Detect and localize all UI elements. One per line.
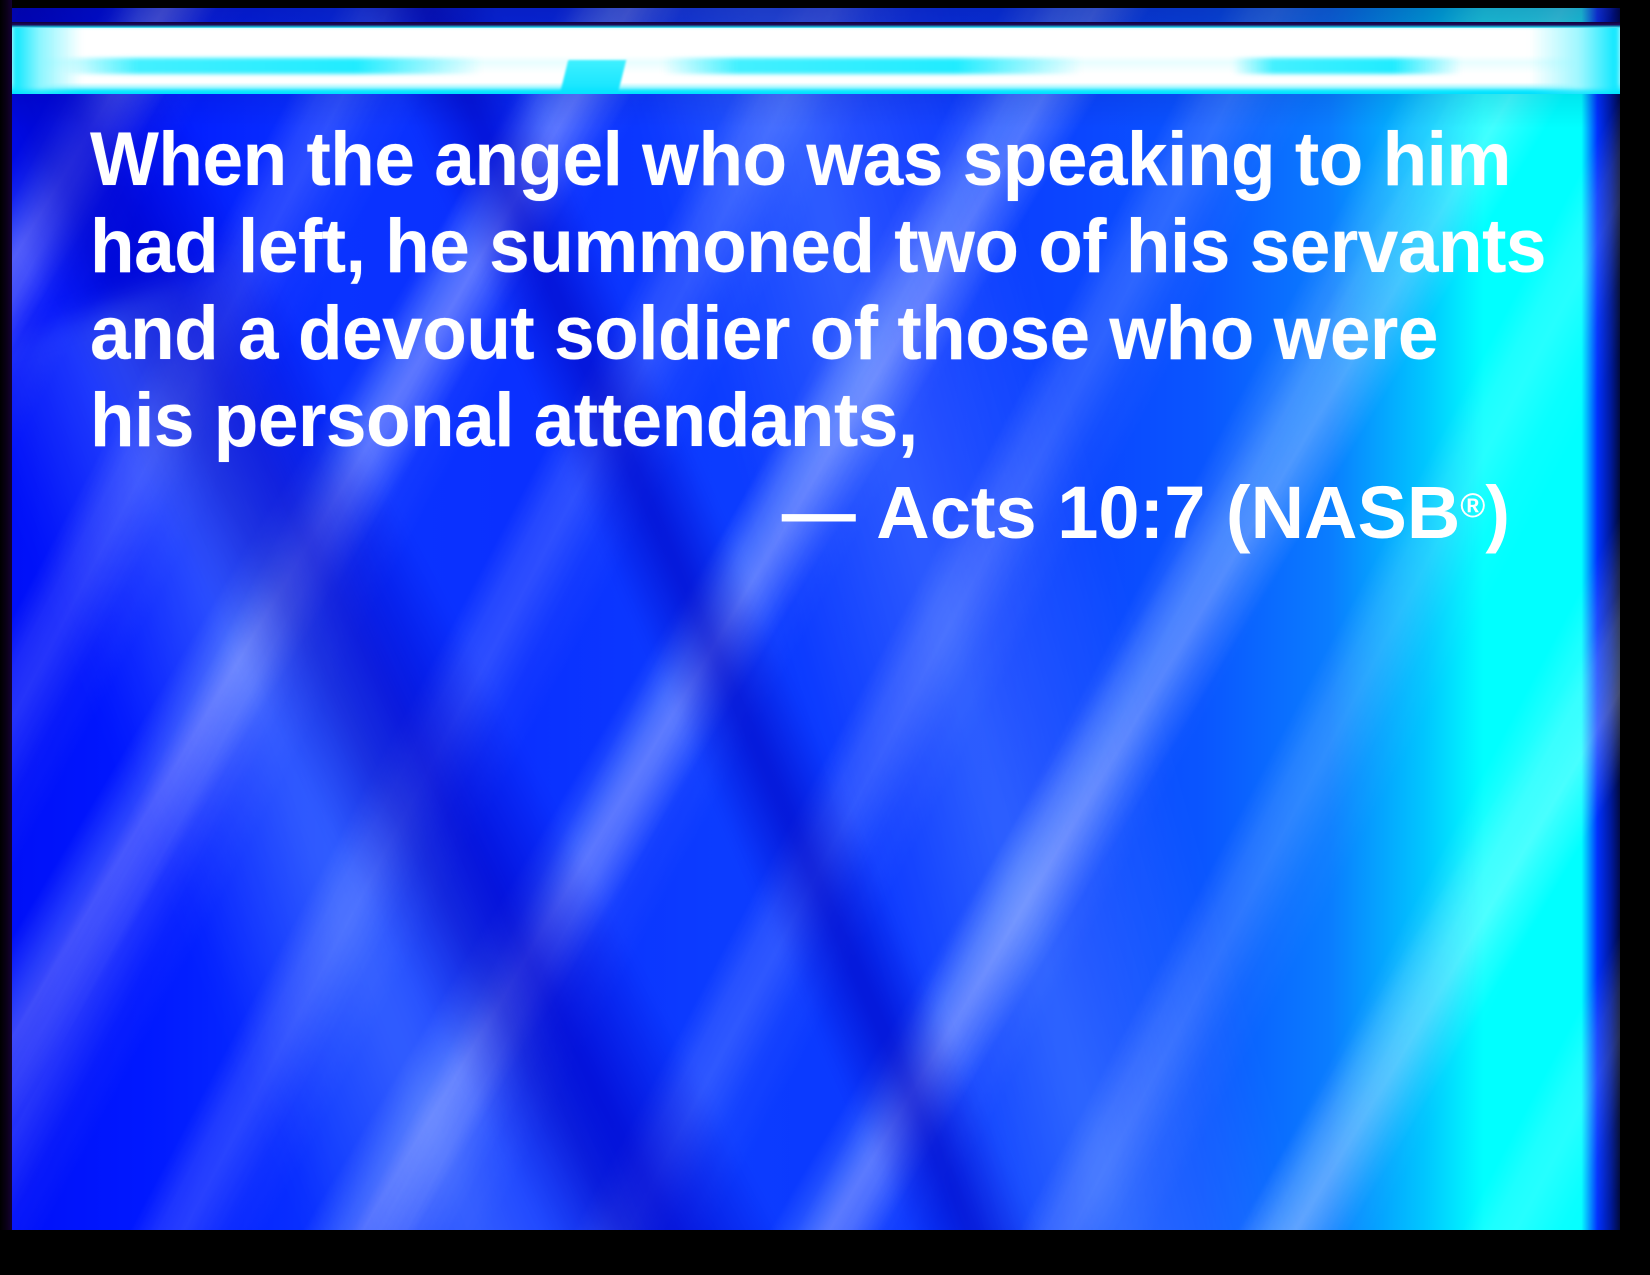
frame-border-top	[0, 0, 1650, 8]
banner-cyan-notch	[560, 60, 626, 94]
banner-cyan-streak	[1232, 58, 1462, 74]
frame-border-left	[0, 0, 12, 1275]
open-paren: (	[1226, 471, 1251, 554]
banner-cyan-streak	[662, 58, 1082, 74]
banner-right-glow	[1530, 22, 1620, 94]
verse-text-block: When the angel who was speaking to him h…	[90, 116, 1510, 464]
banner-under-glow	[12, 90, 1620, 94]
verse-line-1: When the angel who was speaking to him	[90, 116, 1453, 203]
verse-line-2: had left, he summoned two of his servant…	[90, 203, 1453, 290]
banner-left-glow	[12, 22, 82, 94]
close-paren: )	[1485, 471, 1510, 554]
translation-name: NASB	[1251, 471, 1461, 554]
banner-cyan-streak	[62, 58, 482, 74]
verse-attribution: — Acts 10:7 (NASB®)	[90, 468, 1510, 558]
banner-top-rule	[12, 22, 1620, 28]
slide-artwork-panel: When the angel who was speaking to him h…	[12, 8, 1620, 1230]
registered-trademark-icon: ®	[1460, 487, 1485, 525]
verse-slide: When the angel who was speaking to him h…	[0, 0, 1650, 1275]
verse-line-3: and a devout soldier of those who were	[90, 290, 1453, 377]
frame-border-bottom	[0, 1230, 1650, 1275]
frame-border-right	[1620, 0, 1650, 1275]
verse-reference: Acts 10:7	[876, 471, 1205, 554]
verse-line-4: his personal attendants,	[90, 377, 1453, 464]
top-banner	[12, 22, 1620, 94]
em-dash: —	[782, 471, 856, 554]
